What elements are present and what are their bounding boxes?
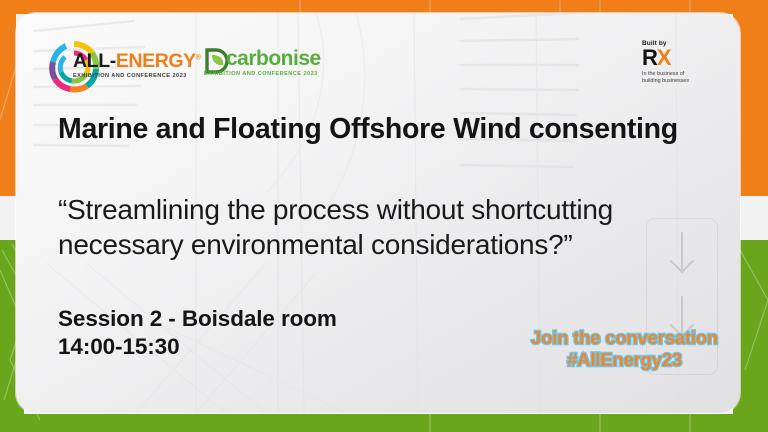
join-conversation-callout: Join the conversation #AllEnergy23 — [531, 327, 718, 371]
rx-tagline-line2: building businesses — [642, 78, 712, 85]
orange-band-left — [0, 0, 16, 196]
session-details: Session 2 - Boisdale room 14:00-15:30 — [58, 305, 558, 362]
presentation-slide: ALL-ENERGY® EXHIBITION AND CONFERENCE 20… — [0, 0, 768, 432]
dcarbonise-logo: carbonise EXHIBITION AND CONFERENCE 2023 — [204, 44, 329, 90]
rx-letter-r: R — [642, 45, 657, 70]
orange-band-top — [0, 0, 768, 14]
session-title: Marine and Floating Offshore Wind consen… — [58, 114, 738, 145]
all-energy-subtitle: EXHIBITION AND CONFERENCE 2023 — [73, 73, 201, 79]
session-quote-line2: necessary environmental considerations?” — [58, 228, 740, 263]
session-time: 14:00-15:30 — [58, 333, 558, 361]
dcarbonise-word: carbonise — [226, 48, 321, 69]
rx-logo: Built by RX In the business of building … — [642, 40, 712, 85]
rx-tagline: In the business of building businesses — [642, 71, 712, 86]
all-energy-word-energy: ENERGY — [116, 50, 196, 72]
green-band-bottom — [0, 414, 768, 432]
session-quote: “Streamlining the process without shortc… — [58, 193, 740, 262]
join-conversation-line: Join the conversation — [531, 327, 718, 349]
all-energy-trademark-icon: ® — [196, 55, 201, 62]
hashtag-line: #AllEnergy23 — [531, 349, 718, 371]
session-room: Session 2 - Boisdale room — [58, 305, 558, 333]
all-energy-logo: ALL-ENERGY® EXHIBITION AND CONFERENCE 20… — [46, 39, 186, 95]
rx-wordmark: RX — [642, 48, 712, 69]
content-card: ALL-ENERGY® EXHIBITION AND CONFERENCE 20… — [16, 13, 740, 413]
dcarbonise-subtitle: EXHIBITION AND CONFERENCE 2023 — [204, 71, 318, 77]
rx-tagline-line1: In the business of — [642, 71, 712, 78]
logo-row: ALL-ENERGY® EXHIBITION AND CONFERENCE 20… — [46, 39, 329, 95]
all-energy-word-all: ALL — [73, 50, 110, 72]
session-quote-line1: “Streamlining the process without shortc… — [58, 193, 740, 228]
rx-letter-x: X — [657, 45, 671, 70]
